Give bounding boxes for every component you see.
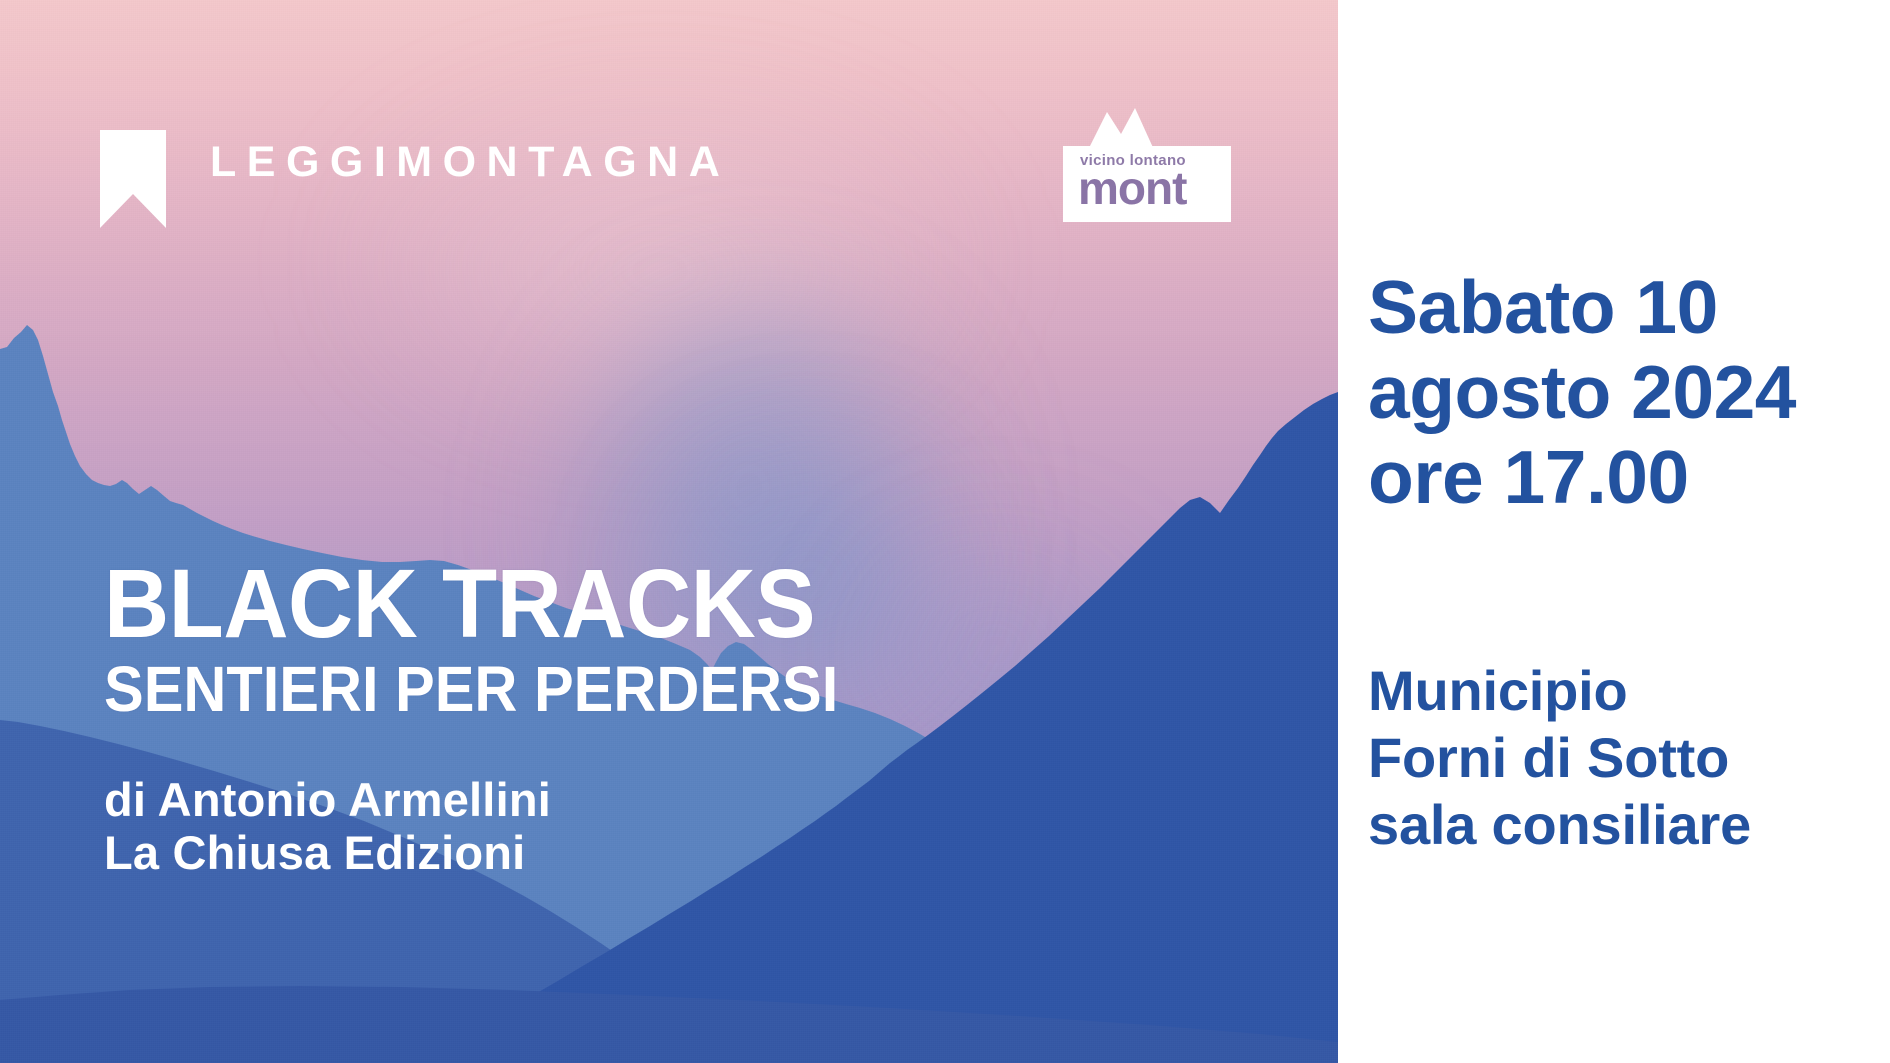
event-venue: Municipio Forni di Sotto sala consiliare bbox=[1368, 657, 1751, 859]
book-subtitle: SENTIERI PER PERDERSI bbox=[104, 657, 838, 722]
book-credit: di Antonio Armellini La Chiusa Edizioni bbox=[104, 774, 894, 879]
cover-typography: BLACK TRACKS SENTIERI PER PERDERSI di An… bbox=[104, 556, 894, 880]
venue-line-3: sala consiliare bbox=[1368, 791, 1751, 858]
event-date-line-1: Sabato 10 bbox=[1368, 265, 1796, 350]
event-info-panel: Sabato 10 agosto 2024 ore 17.00 Municipi… bbox=[1338, 0, 1890, 1063]
book-cover-artwork: LEGGIMONTAGNA vicino lontano mont BLACK … bbox=[0, 0, 1338, 1063]
event-poster: LEGGIMONTAGNA vicino lontano mont BLACK … bbox=[0, 0, 1890, 1063]
leggimontagna-brand[interactable]: LEGGIMONTAGNA bbox=[100, 130, 730, 228]
event-datetime: Sabato 10 agosto 2024 ore 17.00 bbox=[1368, 265, 1796, 519]
event-date-line-2: agosto 2024 bbox=[1368, 350, 1796, 435]
event-time-line: ore 17.00 bbox=[1368, 435, 1796, 520]
book-author: di Antonio Armellini bbox=[104, 774, 894, 827]
book-publisher: La Chiusa Edizioni bbox=[104, 827, 894, 880]
bookmark-icon bbox=[100, 130, 166, 228]
vicino-lontano-mont-logo[interactable]: vicino lontano mont bbox=[1063, 108, 1231, 222]
venue-line-2: Forni di Sotto bbox=[1368, 724, 1751, 791]
book-title: BLACK TRACKS bbox=[104, 556, 838, 651]
venue-line-1: Municipio bbox=[1368, 657, 1751, 724]
mont-name: mont bbox=[1078, 165, 1186, 211]
leggimontagna-wordmark: LEGGIMONTAGNA bbox=[210, 141, 730, 184]
mont-logo-box: vicino lontano mont bbox=[1063, 146, 1231, 222]
